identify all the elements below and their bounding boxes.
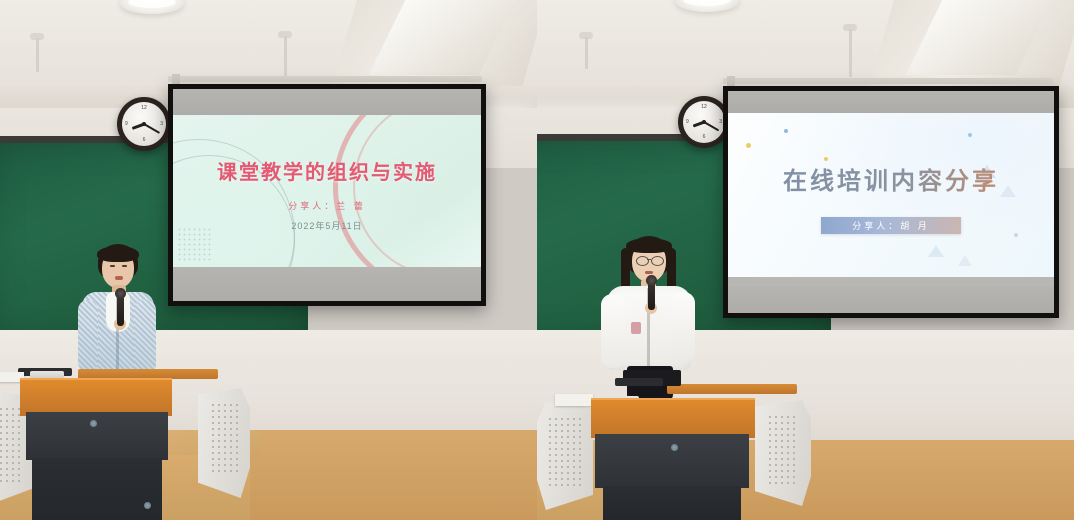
slide-dot-grid-decoration [177,227,213,261]
lectern-front-panel [595,434,749,488]
speaker-grille-right [767,414,799,484]
slide-title: 在线培训内容分享 [728,161,1054,196]
screen-rail [168,76,482,82]
clock-center-pin [702,120,706,124]
ceiling-rod [849,29,852,77]
screen-letterbox-bottom [173,267,481,301]
clock-numeral: 6 [703,134,706,140]
clock-center-pin [142,122,146,126]
glasses-bridge-icon [647,259,651,260]
wall-clock: 12 3 6 9 [117,97,171,151]
lock-icon [144,502,151,509]
clock-numeral: 3 [160,121,163,127]
clock-numeral: 6 [143,137,146,143]
clock-face: 12 3 6 9 [122,102,166,146]
screen-letterbox-top [173,89,481,115]
projection-screen: 课堂教学的组织与实施 分享人：兰 蕾 2022年5月11日 [168,84,486,306]
clock-face: 12 3 6 9 [683,101,725,143]
slide-date: 2022年5月11日 [173,219,481,232]
arm-left [78,300,98,372]
clock-numeral: 3 [719,119,722,125]
lectern-base [603,486,741,520]
confetti-dot [746,143,751,148]
slide-presenter-badge: 分享人：胡 月 [821,217,961,234]
arm-right [134,300,156,374]
speaker-grille-left [547,416,581,488]
arm-left [601,294,625,368]
screen-letterbox-bottom [728,287,1054,313]
lectern-worktop [591,398,755,438]
clock-numeral: 12 [141,105,147,111]
left-classroom-panel: 12 3 6 9 课堂教学的组 [0,0,537,520]
lectern-side-left [537,402,593,510]
lock-icon [90,420,97,427]
lectern-top-rail [667,384,797,394]
lectern-side-right [755,400,811,506]
slide-left: 课堂教学的组织与实施 分享人：兰 蕾 2022年5月11日 [173,115,481,267]
right-classroom-panel: 12 3 6 9 [537,0,1074,520]
lectern-front-panel [26,412,168,460]
ceiling-rod [284,36,287,80]
microphone-head-icon [115,288,126,299]
projection-screen: 在线培训内容分享 分享人：胡 月 [723,86,1059,318]
lock-icon [671,444,678,451]
hair-fringe [626,238,672,253]
presenter-left [72,244,164,384]
jacket-embroidery [631,322,641,334]
clock-numeral: 9 [686,119,689,125]
ceiling-rod [36,38,39,72]
slide-title: 课堂教学的组织与实施 [173,156,481,185]
lectern-side-right [198,388,250,498]
slide-right: 在线培训内容分享 分享人：胡 月 [728,113,1054,277]
triangle-decoration [928,245,944,257]
glasses-left-lens-icon [636,256,649,266]
clock-minute-hand [144,123,161,134]
screenshot-root: 12 3 6 9 课堂教学的组 [0,0,1074,520]
microphone [648,282,655,310]
mouth [115,276,123,280]
confetti-dot [1014,233,1018,237]
slide-subtitle: 分享人：兰 蕾 [173,199,481,212]
screen-letterbox-top [728,91,1054,113]
screen-surface: 在线培训内容分享 分享人：胡 月 [728,91,1054,313]
microphone [117,296,124,326]
mouth [645,271,653,274]
glasses-right-lens-icon [651,256,664,266]
eye-left [110,265,115,267]
screen-rail [723,78,1053,84]
multimedia-lectern [537,382,811,520]
clock-numeral: 9 [125,121,128,127]
triangle-decoration [958,255,972,266]
speaker-grille-right [210,402,240,476]
speaker-grille-left [0,406,24,482]
confetti-dot [784,129,788,133]
eye-right [122,265,127,267]
lectern-worktop [20,378,172,416]
clock-numeral: 12 [701,104,707,110]
microphone-head-icon [646,275,657,286]
ceiling-rod [585,37,588,69]
screen-surface: 课堂教学的组织与实施 分享人：兰 蕾 2022年5月11日 [173,89,481,301]
confetti-dot [968,133,972,137]
hair-fringe [97,246,139,262]
papers [555,394,593,406]
monitor-stand [615,378,663,386]
multimedia-lectern [0,368,250,520]
arm-right [671,292,695,362]
lectern-base [32,458,162,520]
